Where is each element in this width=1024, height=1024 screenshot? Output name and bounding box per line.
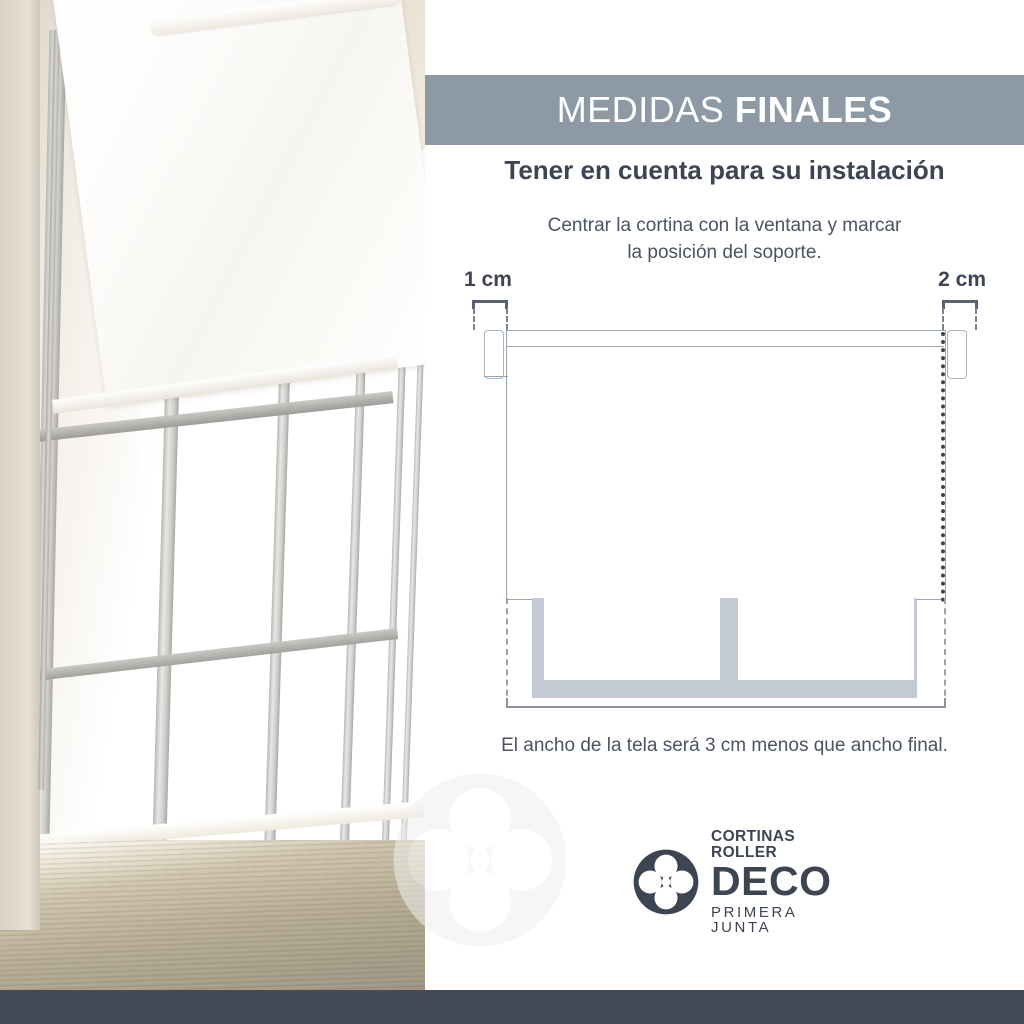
installation-diagram: 1 cm 2 cm [460, 268, 990, 728]
roller-bracket-right-icon [947, 330, 967, 379]
dimension-label-right: 2 cm [938, 268, 986, 292]
brand-logo: CORTINAS ROLLER DECO PRIMERA JUNTA [633, 846, 843, 918]
instruction-line-2: la posición del soporte. [425, 239, 1024, 266]
width-dimension-cap-left [506, 698, 508, 708]
dimension-label-left: 1 cm [464, 268, 512, 292]
page-subtitle: Tener en cuenta para su instalación [425, 155, 1024, 186]
width-dimension-cap-right [944, 698, 946, 708]
instruction-line-1: Centrar la cortina con la ventana y marc… [425, 212, 1024, 239]
photo-roller-blind-fabric [52, 0, 425, 406]
logo-top-text: CORTINAS ROLLER [711, 829, 843, 860]
window-pane-left [544, 598, 720, 680]
banner-title-bold: FINALES [735, 89, 893, 130]
width-guide-left [506, 598, 508, 706]
width-guide-right [944, 598, 946, 706]
gap-guide-right-outer [975, 308, 977, 330]
banner-title-light: MEDIDAS [557, 89, 725, 130]
window-pane-right [738, 598, 914, 680]
gap-bracket-right [942, 300, 978, 303]
banner-title: MEDIDAS FINALES [557, 89, 893, 131]
logo-watermark-icon [390, 770, 570, 950]
poster-canvas: MEDIDAS FINALES Tener en cuenta para su … [0, 0, 1024, 1024]
blind-fabric-body [506, 330, 946, 600]
logo-wordmark: CORTINAS ROLLER DECO PRIMERA JUNTA [711, 829, 843, 935]
bracket-left-foot [484, 376, 508, 377]
gap-guide-right-inner [942, 308, 944, 330]
photo-wood-floor [0, 840, 425, 990]
gap-bracket-left [472, 300, 508, 303]
logo-bottom-text: PRIMERA JUNTA [711, 905, 843, 935]
gap-guide-left-outer [473, 308, 475, 330]
blind-tube-line [506, 346, 944, 347]
footnote-text: El ancho de la tela será 3 cm menos que … [425, 735, 1024, 757]
gap-guide-left-inner [506, 308, 508, 330]
product-photo [0, 0, 425, 990]
instruction-text: Centrar la cortina con la ventana y marc… [425, 212, 1024, 266]
header-banner: MEDIDAS FINALES [425, 75, 1024, 145]
logo-main-text: DECO [711, 861, 843, 902]
roller-bracket-left-icon [484, 330, 504, 379]
width-dimension-line [506, 706, 946, 708]
four-petal-circle-logo-icon [633, 849, 699, 915]
footer-bar [0, 990, 1024, 1024]
bead-chain-icon [941, 332, 945, 602]
photo-wall-column [0, 0, 40, 930]
window-frame-icon [532, 598, 917, 698]
